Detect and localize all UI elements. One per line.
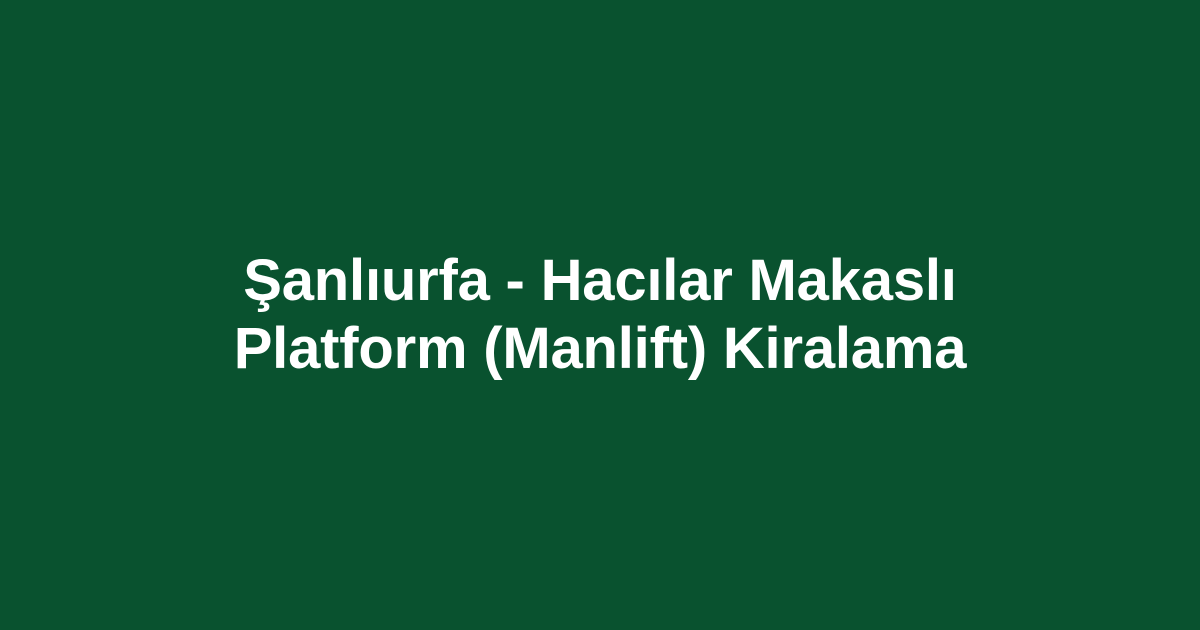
og-preview-card: Şanlıurfa - Hacılar Makaslı Platform (Ma… — [0, 0, 1200, 630]
page-title: Şanlıurfa - Hacılar Makaslı Platform (Ma… — [120, 247, 1080, 383]
